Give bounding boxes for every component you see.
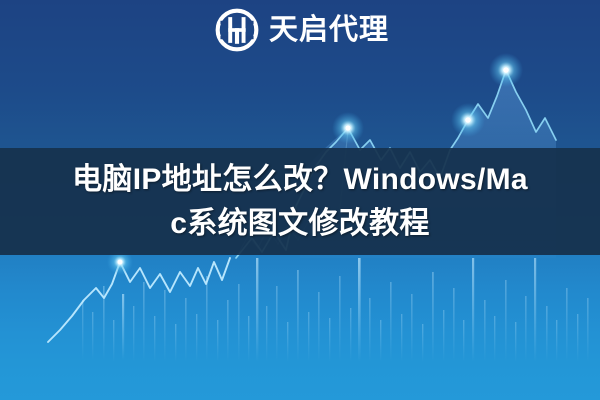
brand-logo: 天启代理 xyxy=(214,6,389,54)
lower-zigzag-line xyxy=(48,258,230,342)
glow-dot-core-icon xyxy=(118,260,123,265)
tianqi-circle-h-icon xyxy=(214,7,260,53)
banner-image: 电脑IP地址怎么改？Windows/Ma c系统图文修改教程 天启代理 xyxy=(0,0,600,400)
vertical-bars-group xyxy=(82,258,589,362)
brand-name: 天启代理 xyxy=(269,7,389,53)
title-line-1: 电脑IP地址怎么改？Windows/Ma xyxy=(72,158,528,202)
page-title: 电脑IP地址怎么改？Windows/Ma c系统图文修改教程 xyxy=(0,150,600,254)
title-line-2: c系统图文修改教程 xyxy=(170,202,429,246)
